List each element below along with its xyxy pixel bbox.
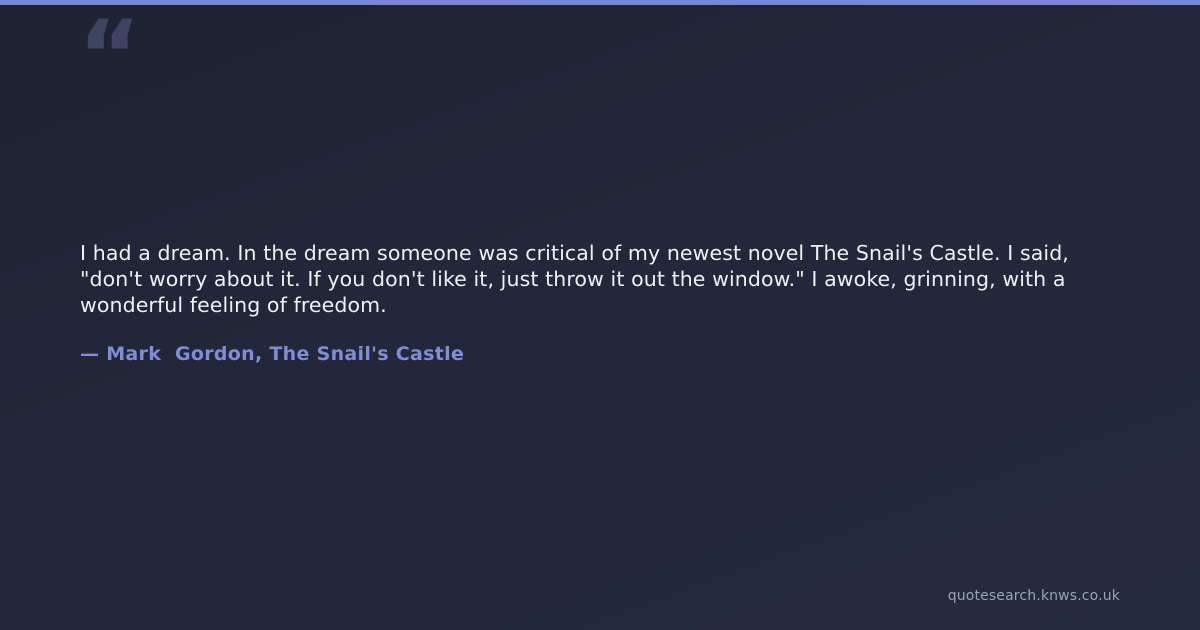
quote-card: “ I had a dream. In the dream someone wa… (0, 0, 1200, 630)
top-accent-bar (0, 0, 1200, 5)
quote-text: I had a dream. In the dream someone was … (80, 240, 1120, 318)
quote-attribution: — Mark Gordon, The Snail's Castle (80, 341, 464, 367)
opening-quotation-mark-icon: “ (78, 8, 139, 104)
source-url: quotesearch.knws.co.uk (948, 587, 1120, 605)
